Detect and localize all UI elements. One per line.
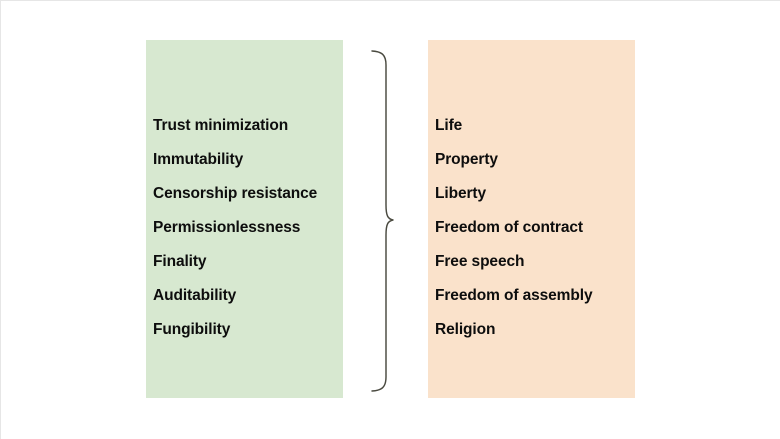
right-panel-item: Freedom of assembly xyxy=(435,279,635,313)
left-panel-item-list: Trust minimizationImmutabilityCensorship… xyxy=(153,109,343,347)
right-panel-item: Freedom of contract xyxy=(435,211,635,245)
curly-brace-icon xyxy=(372,51,393,391)
right-panel-item: Property xyxy=(435,143,635,177)
left-panel-item: Auditability xyxy=(153,279,343,313)
right-panel-item-list: LifePropertyLibertyFreedom of contractFr… xyxy=(435,109,635,347)
left-panel-item: Immutability xyxy=(153,143,343,177)
diagram-canvas: Trust minimizationImmutabilityCensorship… xyxy=(0,0,780,439)
left-panel-item: Finality xyxy=(153,245,343,279)
right-panel: LifePropertyLibertyFreedom of contractFr… xyxy=(428,40,635,398)
right-panel-item: Religion xyxy=(435,313,635,347)
left-panel-item: Fungibility xyxy=(153,313,343,347)
left-panel-item: Censorship resistance xyxy=(153,177,343,211)
right-panel-item: Life xyxy=(435,109,635,143)
left-panel-item: Permissionlessness xyxy=(153,211,343,245)
left-panel-item: Trust minimization xyxy=(153,109,343,143)
left-panel: Trust minimizationImmutabilityCensorship… xyxy=(146,40,343,398)
curly-brace-connector xyxy=(363,45,403,397)
right-panel-item: Liberty xyxy=(435,177,635,211)
right-panel-item: Free speech xyxy=(435,245,635,279)
